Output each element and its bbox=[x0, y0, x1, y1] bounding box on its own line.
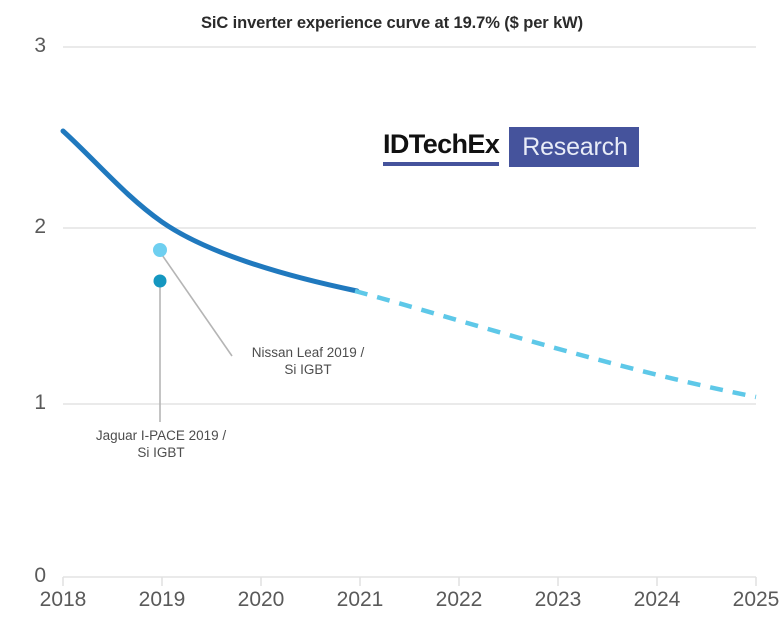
curve-forecast bbox=[355, 291, 756, 397]
data-point-jaguar-ipace[interactable] bbox=[154, 275, 167, 288]
logo-brand-text: IDTechEx bbox=[383, 129, 499, 159]
leader-line-nissan bbox=[160, 252, 232, 356]
idtechex-research-logo: IDTechEx Research bbox=[383, 127, 639, 167]
ytick-label-1: 1 bbox=[12, 391, 46, 415]
ytick-label-3: 3 bbox=[12, 34, 46, 58]
ytick-label-2: 2 bbox=[12, 215, 46, 239]
chart-plot-area bbox=[0, 0, 784, 617]
chart-container: SiC inverter experience curve at 19.7% (… bbox=[0, 0, 784, 617]
data-point-nissan-leaf[interactable] bbox=[153, 243, 167, 257]
annotation-jaguar-ipace: Jaguar I-PACE 2019 / Si IGBT bbox=[86, 427, 236, 461]
logo-underline bbox=[383, 162, 499, 166]
x-axis-ticks bbox=[63, 577, 756, 586]
xtick-label-2020: 2020 bbox=[216, 588, 306, 612]
logo-product-text: Research bbox=[522, 134, 627, 160]
curve-historic bbox=[63, 131, 357, 291]
xtick-label-2018: 2018 bbox=[18, 588, 108, 612]
xtick-label-2025: 2025 bbox=[711, 588, 784, 612]
xtick-label-2023: 2023 bbox=[513, 588, 603, 612]
annotation-nissan-leaf: Nissan Leaf 2019 / Si IGBT bbox=[236, 344, 380, 378]
xtick-label-2022: 2022 bbox=[414, 588, 504, 612]
xtick-label-2019: 2019 bbox=[117, 588, 207, 612]
logo-brand-wrap: IDTechEx bbox=[383, 127, 509, 167]
xtick-label-2021: 2021 bbox=[315, 588, 405, 612]
ytick-label-0: 0 bbox=[12, 564, 46, 588]
xtick-label-2024: 2024 bbox=[612, 588, 702, 612]
logo-product-box: Research bbox=[509, 127, 638, 167]
